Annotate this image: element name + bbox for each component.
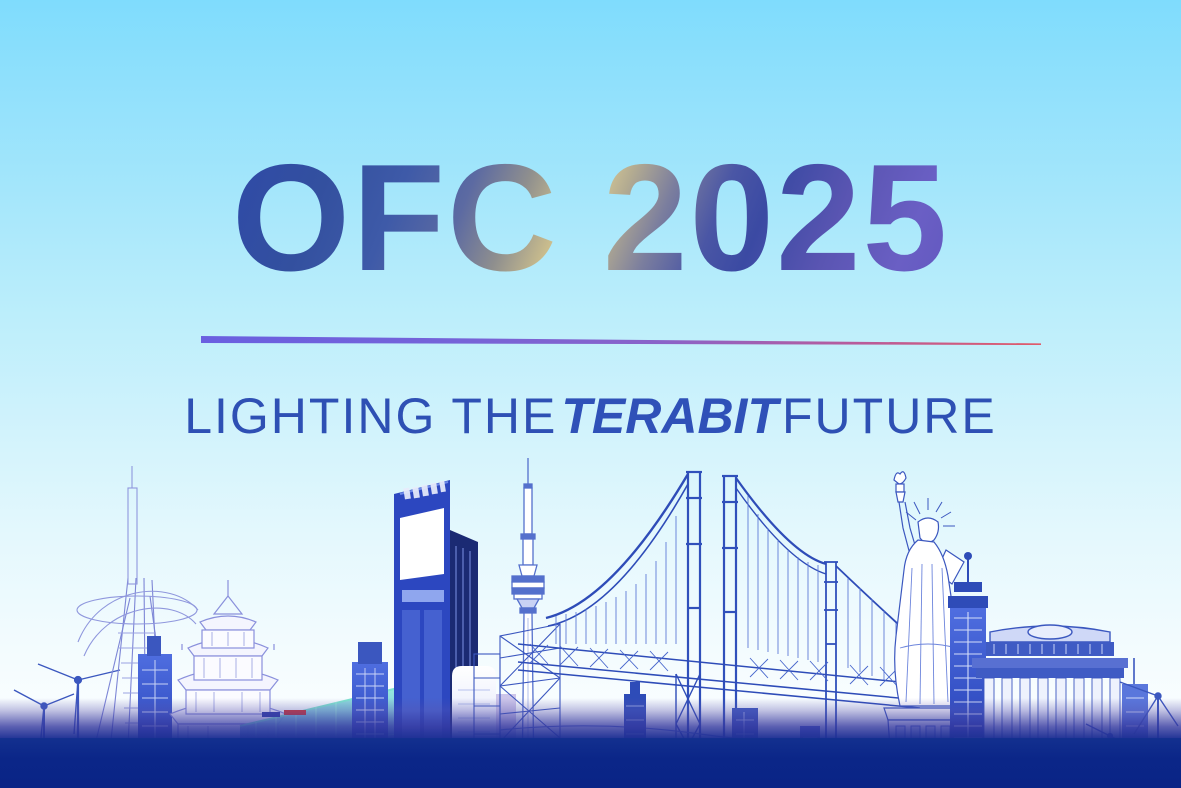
- grass-gradient-band: [0, 698, 1181, 740]
- title-block: OFC 2025: [0, 142, 1181, 294]
- navy-ground-band: [0, 738, 1181, 788]
- page-title: OFC 2025: [232, 142, 949, 294]
- tagline-trail: FUTURE: [782, 388, 997, 444]
- ofc-2025-banner: OFC 2025 LIGHTING THETERABITFUTURE: [0, 0, 1181, 788]
- tagline-block: LIGHTING THETERABITFUTURE: [0, 390, 1181, 443]
- tagline: LIGHTING THETERABITFUTURE: [184, 390, 997, 443]
- tagline-lead: LIGHTING THE: [184, 388, 557, 444]
- tagline-emphasis: TERABIT: [557, 388, 782, 444]
- title-divider: [201, 336, 1041, 346]
